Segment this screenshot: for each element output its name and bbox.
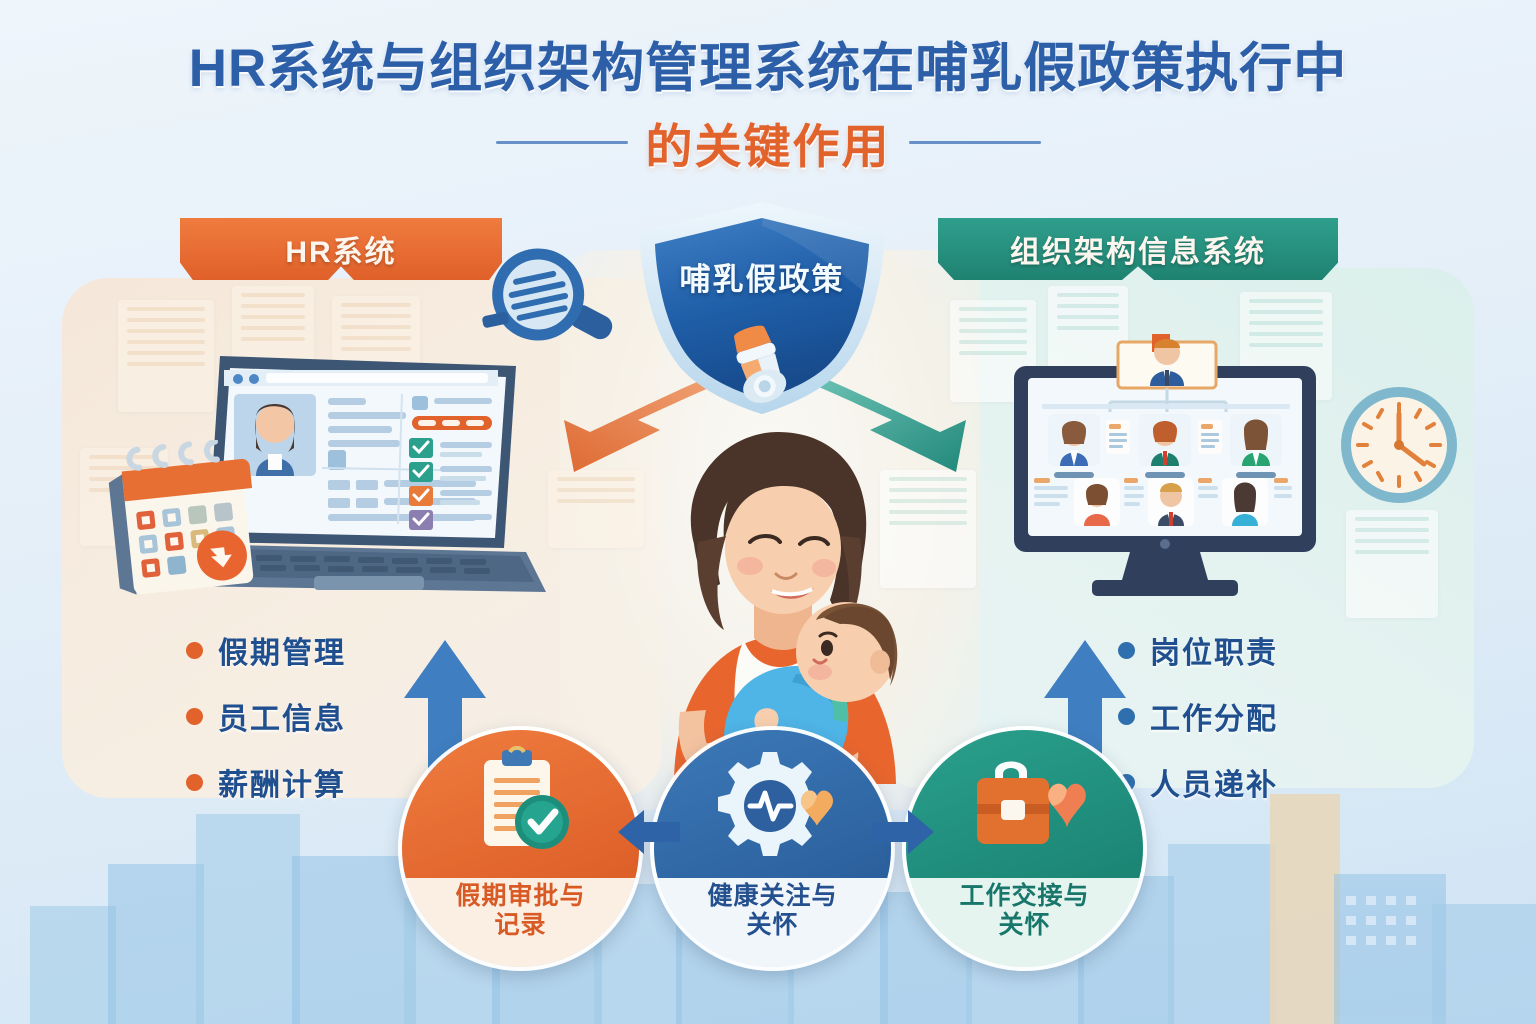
flow-circle-health-care[interactable]: 健康关注与 关怀 [650, 726, 895, 971]
briefcase-heart-icon [957, 746, 1093, 864]
page-title: HR系统与组织架构管理系统在哺乳假政策执行中 [0, 26, 1536, 102]
page-subtitle-row: 的关键作用 [0, 108, 1536, 177]
list-item: 薪酬计算 [186, 760, 346, 804]
list-item-label: 工作分配 [1150, 694, 1278, 738]
clipboard-check-icon [460, 746, 582, 864]
hr-system-banner[interactable]: HR系统 [180, 218, 502, 280]
title-rule-right [909, 141, 1041, 144]
list-item-label: 薪酬计算 [218, 760, 346, 804]
policy-shield-badge[interactable]: 哺乳假政策 [627, 196, 897, 420]
flow-circle-label: 工作交接与 关怀 [912, 882, 1137, 940]
gear-heartbeat-icon [705, 746, 841, 866]
flow-circle-work-handover[interactable]: 工作交接与 关怀 [902, 726, 1147, 971]
flow-circle-label: 假期审批与 记录 [408, 882, 633, 940]
hr-system-banner-label: HR系统 [285, 227, 396, 271]
bullet-dot [186, 642, 203, 659]
list-item-label: 人员递补 [1150, 760, 1278, 804]
shield-label: 哺乳假政策 [627, 254, 897, 299]
process-flow-circles: 假期审批与 记录 健康关注与 关怀 [398, 726, 1158, 976]
bullet-dot [1118, 642, 1135, 659]
flow-circle-label-line1: 工作交接与 [959, 882, 1089, 910]
flow-circle-label-line2: 记录 [494, 911, 546, 939]
bullet-dot [186, 708, 203, 725]
flow-arrow-right [868, 804, 938, 860]
flow-circle-leave-approval[interactable]: 假期审批与 记录 [398, 726, 643, 971]
flow-circle-label-line2: 关怀 [746, 911, 798, 939]
background-paper [1346, 510, 1438, 618]
wall-clock-icon [1336, 382, 1462, 508]
bullet-dot [1118, 708, 1135, 725]
list-item-label: 假期管理 [218, 628, 346, 672]
flow-circle-label-line2: 关怀 [998, 911, 1050, 939]
list-item-label: 岗位职责 [1150, 628, 1278, 672]
org-structure-banner-label: 组织架构信息系统 [1010, 227, 1266, 271]
page-subtitle: 的关键作用 [646, 108, 891, 177]
flow-circle-label-line1: 健康关注与 [707, 882, 837, 910]
hr-system-feature-list: 假期管理 员工信息 薪酬计算 [186, 628, 346, 826]
list-item: 假期管理 [186, 628, 346, 672]
bullet-dot [186, 774, 203, 791]
baby-bottle-icon [714, 322, 810, 408]
flow-arrow-left [614, 804, 684, 860]
poster-header: HR系统与组织架构管理系统在哺乳假政策执行中 的关键作用 [0, 26, 1536, 177]
flow-circle-label-line1: 假期审批与 [455, 882, 585, 910]
title-rule-left [496, 141, 628, 144]
org-structure-monitor-illustration [1000, 330, 1330, 610]
list-item: 员工信息 [186, 694, 346, 738]
list-item-label: 员工信息 [218, 694, 346, 738]
calendar-icon [85, 440, 270, 600]
infographic-poster: HR系统与组织架构管理系统在哺乳假政策执行中 的关键作用 HR系统 组织架构信息… [0, 0, 1536, 1024]
list-item: 岗位职责 [1118, 628, 1278, 672]
flow-circle-label: 健康关注与 关怀 [660, 882, 885, 940]
